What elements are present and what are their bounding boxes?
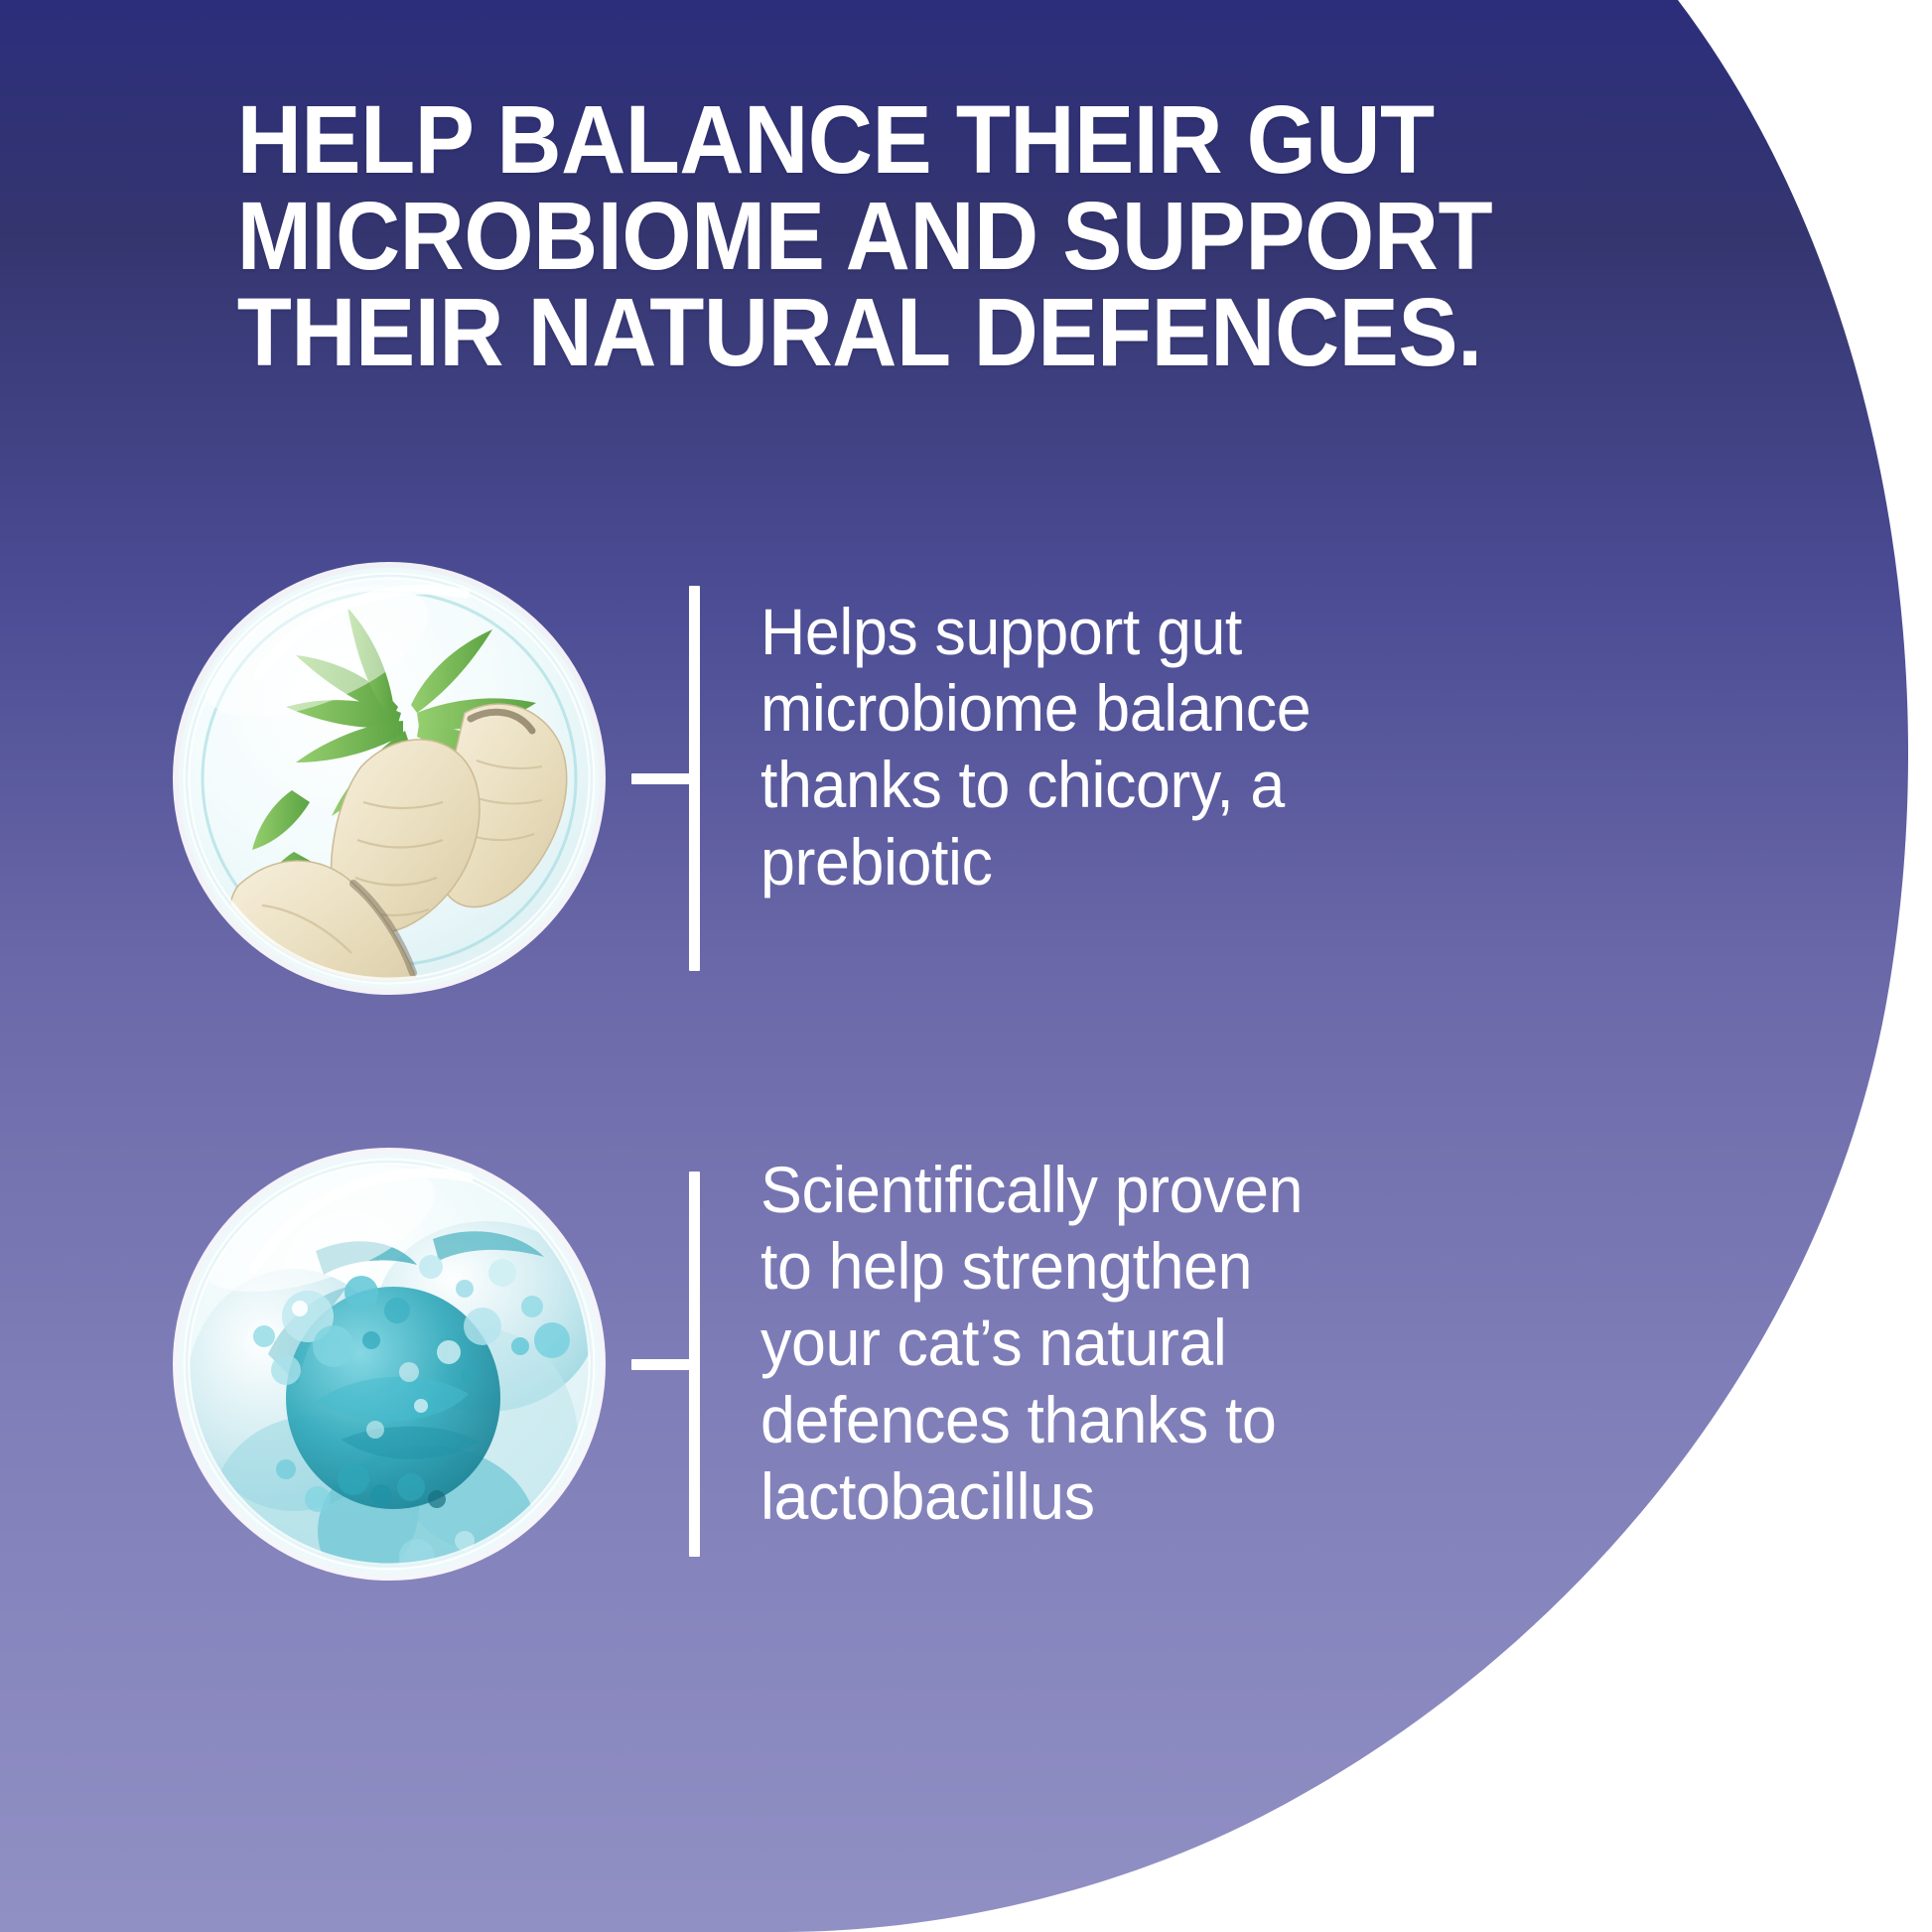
feature-bracket-divider bbox=[612, 556, 760, 1001]
petri-dish-lactobacillus-bubbles-icon bbox=[167, 1142, 612, 1587]
feature-1-line-4: defences thanks to bbox=[760, 1382, 1364, 1458]
bracket-tick-mark bbox=[631, 1359, 700, 1370]
feature-1-line-2: to help strengthen bbox=[760, 1228, 1364, 1305]
bracket-tick-mark bbox=[631, 773, 700, 784]
petri-dish-chicory-root-icon bbox=[167, 556, 612, 1001]
feature-1-line-5: lactobacillus bbox=[760, 1458, 1364, 1535]
feature-0-line-4: prebiotic bbox=[760, 824, 1364, 900]
feature-item-lactobacillus: Scientifically proven to help strengthen… bbox=[167, 1142, 1396, 1587]
feature-item-chicory: Helps support gut microbiome balance tha… bbox=[167, 556, 1396, 1001]
headline-line-1: HELP BALANCE THEIR GUT bbox=[237, 91, 1364, 188]
headline-line-2: MICROBIOME AND SUPPORT bbox=[237, 188, 1364, 284]
headline-line-3: THEIR NATURAL DEFENCES. bbox=[237, 284, 1364, 380]
feature-1-line-1: Scientifically proven bbox=[760, 1152, 1364, 1228]
page-title: HELP BALANCE THEIR GUT MICROBIOME AND SU… bbox=[237, 91, 1364, 380]
feature-0-line-1: Helps support gut bbox=[760, 594, 1364, 670]
feature-bracket-divider bbox=[612, 1142, 760, 1587]
feature-text-chicory: Helps support gut microbiome balance tha… bbox=[760, 556, 1364, 900]
feature-text-lactobacillus: Scientifically proven to help strengthen… bbox=[760, 1142, 1364, 1535]
feature-0-line-3: thanks to chicory, a bbox=[760, 747, 1364, 823]
feature-0-line-2: microbiome balance bbox=[760, 670, 1364, 747]
feature-1-line-3: your cat’s natural bbox=[760, 1305, 1364, 1381]
